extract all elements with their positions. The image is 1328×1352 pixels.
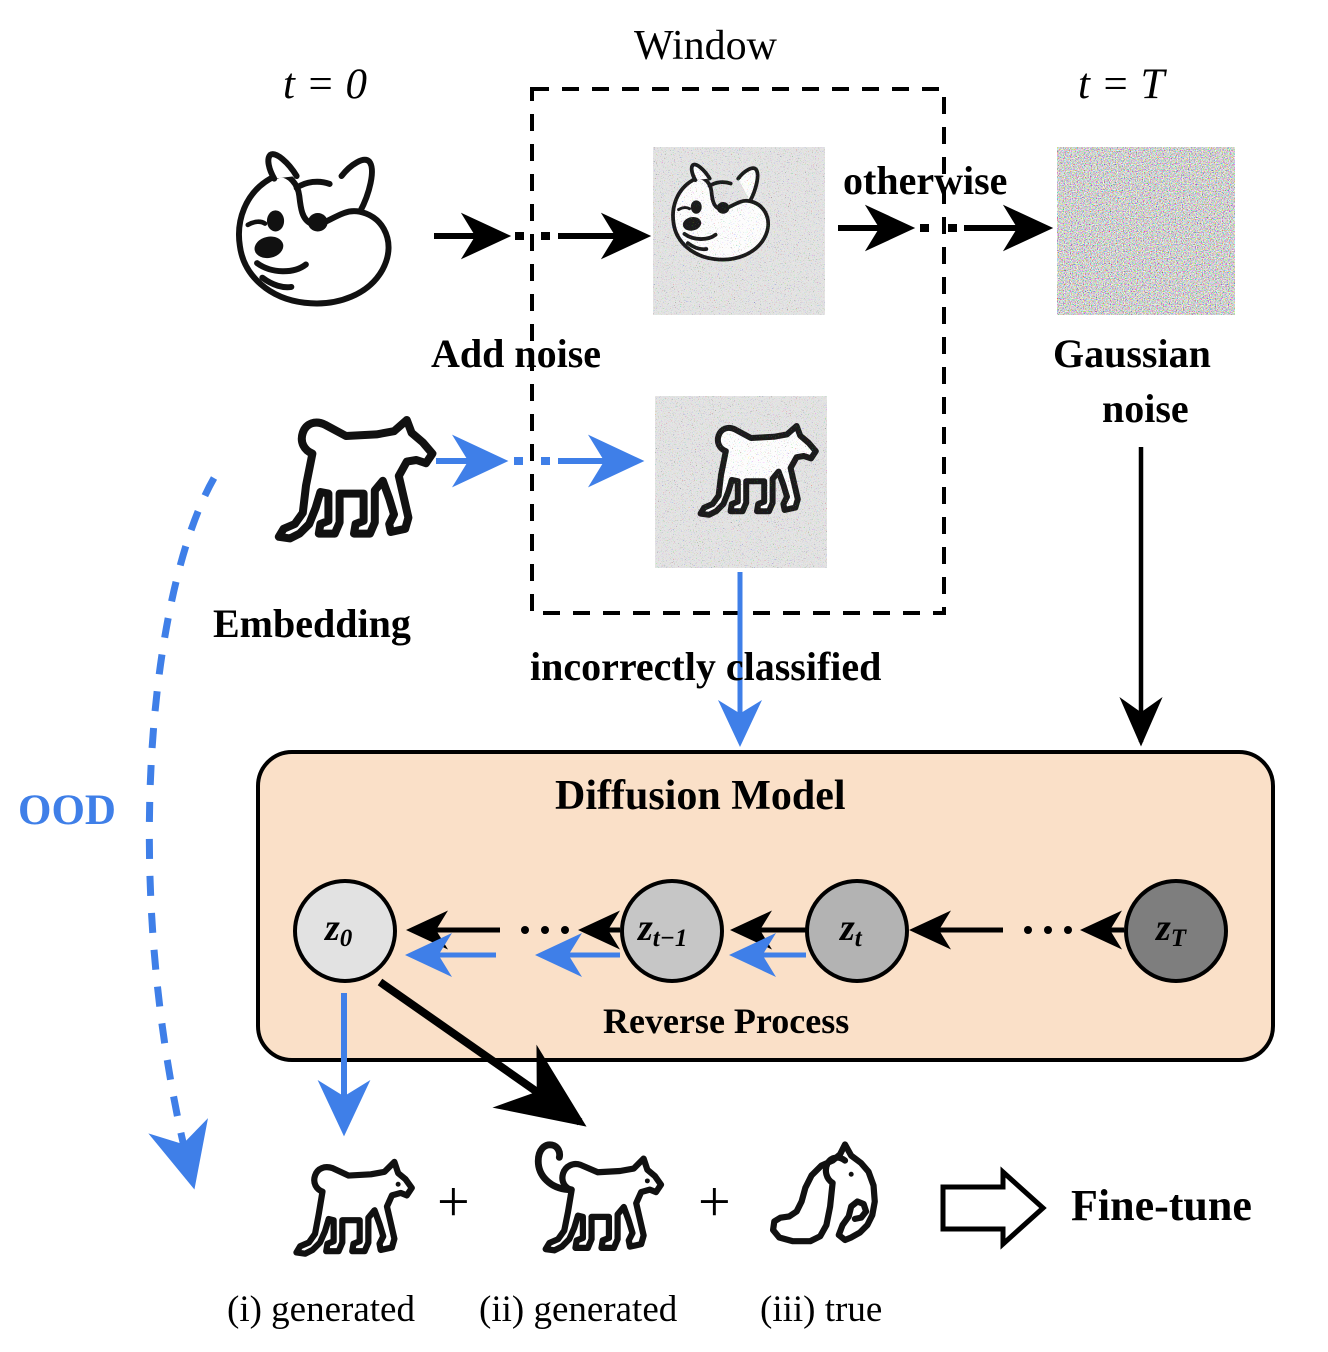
fine-tune-block-arrow [943,1172,1043,1244]
latent-label-zt-1: zt−1 [638,906,687,953]
cat-generated-2-sketch [538,1145,661,1251]
latent-z0-sub: 0 [340,925,353,952]
output-caption-1: (i) generated [227,1288,415,1331]
dog-body-clean-sketch [279,420,433,538]
doge-head-clean-sketch [239,154,389,303]
label-ood: OOD [18,786,116,835]
latent-zt-sub: t [855,925,862,952]
doge-head-noisy-tile [653,147,825,315]
label-add-noise: Add noise [431,330,601,377]
output-caption-2: (ii) generated [479,1288,677,1331]
latent-z0-base: z [325,907,340,949]
label-gaussian-noise-line1: Gaussian [1053,330,1211,377]
label-reverse-process: Reverse Process [603,1000,849,1042]
latent-ztm1-base: z [638,907,653,949]
plus-sign-1: + [437,1168,470,1235]
figure-canvas: t = 0 Window t = T otherwise Add noise G… [0,0,1328,1352]
latent-ztm1-sub: t−1 [653,925,688,952]
latent-zt-base: z [840,907,855,949]
label-gaussian-noise-line2: noise [1102,385,1189,432]
cat-true-sketch [773,1144,875,1241]
latent-zT-base: z [1156,907,1171,949]
label-otherwise: otherwise [843,157,1007,204]
gaussian-noise-tile [1057,147,1235,315]
label-t-T: t = T [1078,60,1164,109]
latent-label-z0: z0 [325,906,352,953]
latent-zT-sub: T [1171,925,1186,952]
label-window: Window [634,22,777,70]
latent-label-zt: zt [840,906,862,953]
cat-generated-1-sketch [296,1162,411,1254]
label-incorrectly-classified: incorrectly classified [530,643,881,690]
plus-sign-2: + [698,1168,731,1235]
label-t-zero: t = 0 [283,60,367,109]
output-caption-3: (iii) true [760,1288,882,1331]
label-embedding: Embedding [213,600,411,647]
latent-label-zT: zT [1156,906,1186,953]
dog-body-noisy-tile [655,396,827,568]
label-fine-tune: Fine-tune [1071,1180,1252,1231]
label-diffusion-model: Diffusion Model [555,772,846,820]
